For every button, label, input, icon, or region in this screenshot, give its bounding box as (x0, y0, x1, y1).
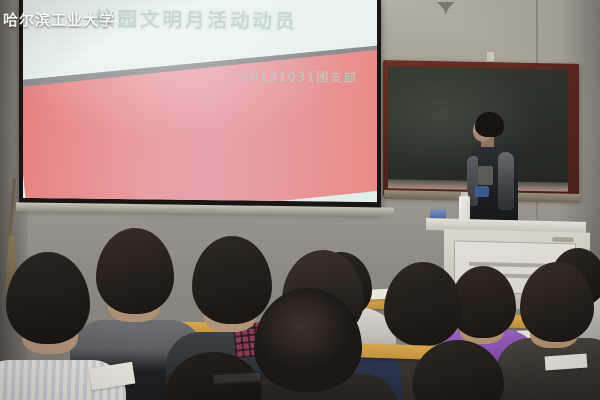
chalkboard-clip (487, 52, 494, 61)
presenter-sleeve-right (498, 152, 514, 210)
student-10 (392, 340, 532, 400)
paper-sheet (545, 354, 588, 371)
photo-watermark: 哈尔滨工业大学 (3, 9, 115, 30)
student-head (384, 262, 462, 346)
student-head (6, 252, 90, 344)
blue-cloth (475, 186, 489, 197)
presenter (466, 112, 522, 224)
projection-screen: 校园文明月活动动员 20131031团支部 (19, 0, 381, 211)
podium-handle (552, 237, 574, 243)
slide-title: 校园文明月活动动员 (95, 3, 298, 34)
presenter-hair (475, 112, 504, 137)
student-head (520, 262, 594, 342)
presenter-jacket-logo (478, 166, 493, 185)
student-head (412, 340, 504, 400)
classroom-photo: 校园文明月活动动员 20131031团支部 (0, 0, 600, 400)
slide-date-line: 20131031团支部 (241, 66, 358, 86)
projection-screen-surface: 校园文明月活动动员 20131031团支部 (23, 0, 377, 202)
